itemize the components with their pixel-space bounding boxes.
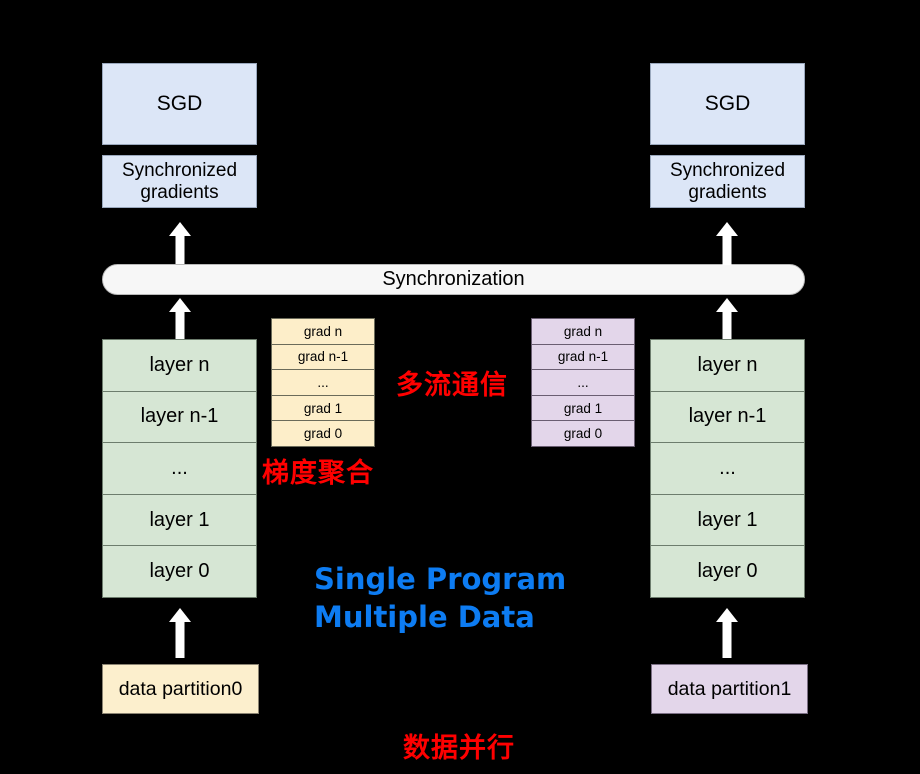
arrow-shaft bbox=[723, 310, 732, 339]
arrow-up-from-partition-worker0 bbox=[168, 608, 192, 658]
sgd-box-worker1: SGD bbox=[650, 63, 805, 145]
layer-stack-worker0: layer n layer n-1 ... layer 1 layer 0 bbox=[102, 339, 257, 598]
grad-cell: grad n bbox=[532, 319, 634, 345]
grad-stack-worker1: grad n grad n-1 ... grad 1 grad 0 bbox=[531, 318, 635, 447]
arrow-up-syncgrad-worker0 bbox=[168, 222, 192, 265]
arrow-shaft bbox=[176, 234, 185, 265]
sgd-box-worker0: SGD bbox=[102, 63, 257, 145]
arrow-up-syncgrad-worker1 bbox=[715, 222, 739, 265]
synchronized-gradients-box-worker1: Synchronized gradients bbox=[650, 155, 805, 208]
data-partition-box-worker1: data partition1 bbox=[651, 664, 808, 714]
annotation-data-parallel: 数据并行 bbox=[403, 726, 515, 765]
arrow-up-to-sync-worker0 bbox=[168, 298, 192, 339]
layer-cell: layer 0 bbox=[651, 546, 804, 597]
grad-cell: ... bbox=[272, 370, 374, 396]
grad-stack-worker0: grad n grad n-1 ... grad 1 grad 0 bbox=[271, 318, 375, 447]
layer-stack-worker1: layer n layer n-1 ... layer 1 layer 0 bbox=[650, 339, 805, 598]
grad-cell: grad 0 bbox=[532, 421, 634, 446]
grad-cell: ... bbox=[532, 370, 634, 396]
layer-cell: layer n-1 bbox=[103, 392, 256, 444]
grad-cell: grad n bbox=[272, 319, 374, 345]
grad-cell: grad n-1 bbox=[532, 345, 634, 371]
annotation-gradient-aggregation: 梯度聚合 bbox=[262, 451, 374, 490]
layer-cell: ... bbox=[103, 443, 256, 495]
grad-cell: grad 0 bbox=[272, 421, 374, 446]
synchronized-gradients-box-worker0: Synchronized gradients bbox=[102, 155, 257, 208]
grad-cell: grad n-1 bbox=[272, 345, 374, 371]
diagram-canvas: SGD Synchronized gradients Synchronizati… bbox=[0, 0, 920, 774]
arrow-up-from-partition-worker1 bbox=[715, 608, 739, 658]
annotation-spmd: Single Program Multiple Data bbox=[314, 560, 566, 637]
data-partition-box-worker0: data partition0 bbox=[102, 664, 259, 714]
arrow-shaft bbox=[176, 620, 185, 658]
layer-cell: layer n bbox=[103, 340, 256, 392]
arrow-up-to-sync-worker1 bbox=[715, 298, 739, 339]
grad-cell: grad 1 bbox=[532, 396, 634, 422]
layer-cell: layer 1 bbox=[651, 495, 804, 547]
grad-cell: grad 1 bbox=[272, 396, 374, 422]
synchronization-bar: Synchronization bbox=[102, 264, 805, 295]
annotation-multi-stream-communication: 多流通信 bbox=[396, 363, 508, 402]
layer-cell: ... bbox=[651, 443, 804, 495]
layer-cell: layer n-1 bbox=[651, 392, 804, 444]
arrow-shaft bbox=[723, 620, 732, 658]
arrow-shaft bbox=[176, 310, 185, 339]
layer-cell: layer 0 bbox=[103, 546, 256, 597]
layer-cell: layer 1 bbox=[103, 495, 256, 547]
layer-cell: layer n bbox=[651, 340, 804, 392]
arrow-shaft bbox=[723, 234, 732, 265]
